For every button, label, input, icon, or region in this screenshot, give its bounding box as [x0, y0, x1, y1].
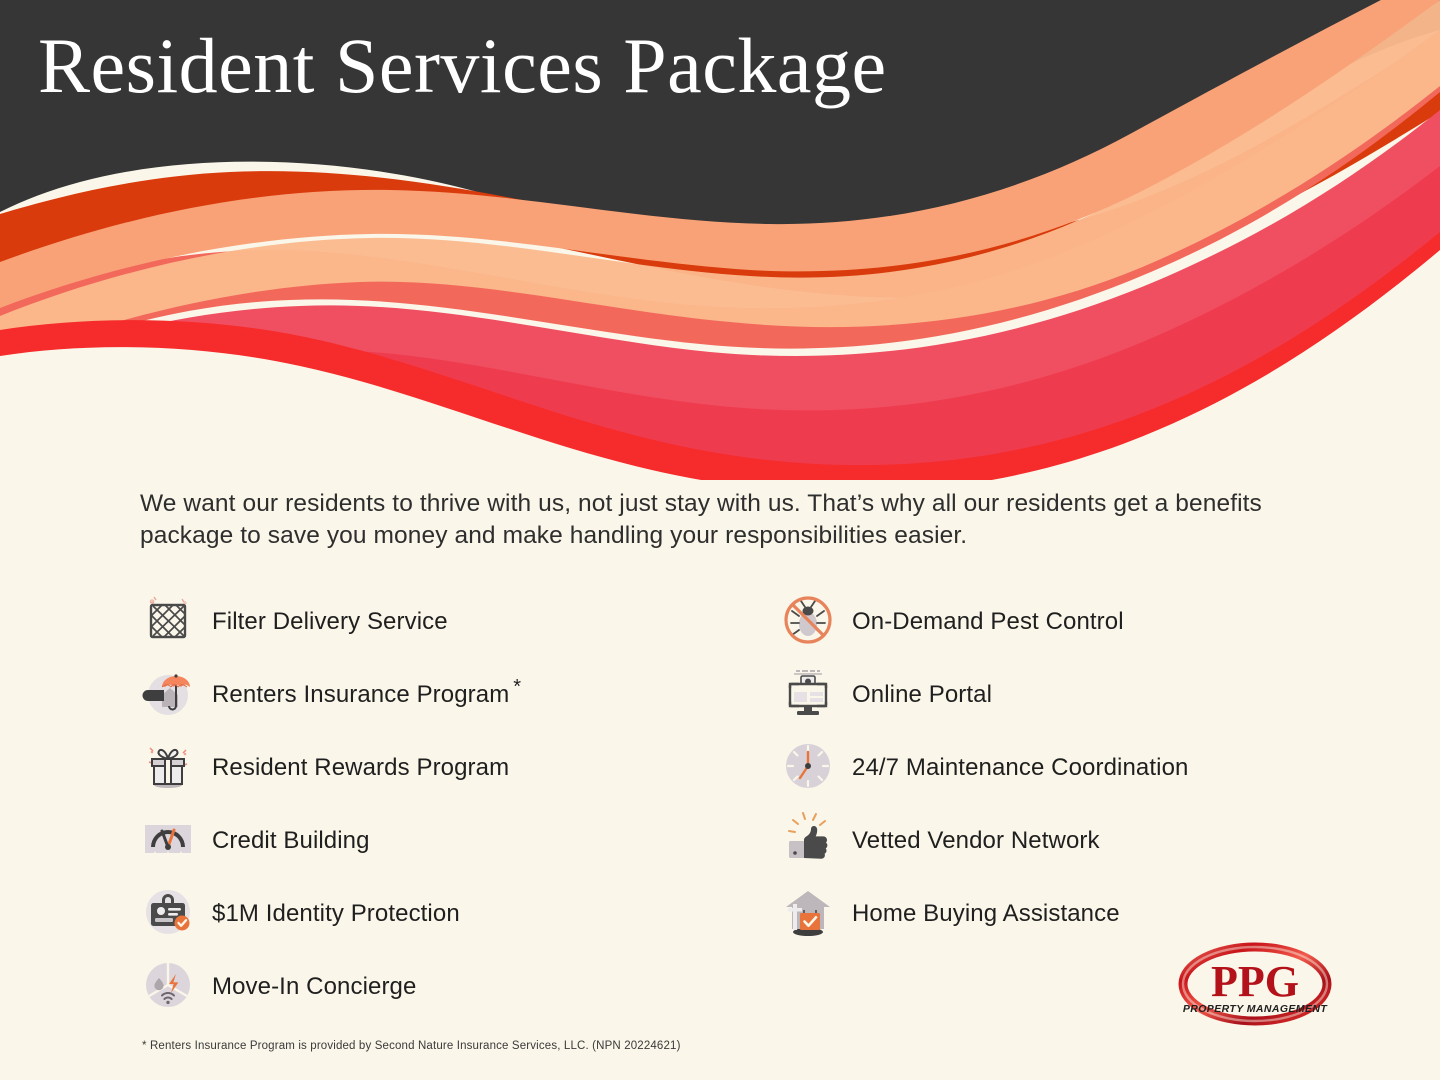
- benefit-label: Renters Insurance Program*: [212, 676, 521, 709]
- clock-icon: [780, 738, 836, 794]
- benefit-label: Home Buying Assistance: [852, 895, 1124, 928]
- utilities-circle-icon: [140, 957, 196, 1013]
- ppg-logo: PPG PROPERTY MANAGEMENT: [1170, 938, 1340, 1030]
- benefit-label: Credit Building: [212, 822, 374, 855]
- benefit-label: Vetted Vendor Network: [852, 822, 1104, 855]
- no-pest-icon: [780, 592, 836, 648]
- benefit-item-maintenance-coordination[interactable]: 24/7 Maintenance Coordination: [780, 729, 1320, 802]
- hero-banner: Resident Services Package: [0, 0, 1440, 480]
- resident-services-package-slide: Resident Services Package We want our re…: [0, 0, 1440, 1080]
- benefit-label: Filter Delivery Service: [212, 603, 452, 636]
- monitor-person-icon: [780, 665, 836, 721]
- benefit-item-credit-building[interactable]: Credit Building: [140, 802, 760, 875]
- benefit-label: $1M Identity Protection: [212, 895, 464, 928]
- gift-box-icon: [140, 738, 196, 794]
- thumbs-up-icon: [780, 811, 836, 867]
- page-title: Resident Services Package: [38, 26, 887, 106]
- footnote-marker: *: [513, 676, 521, 698]
- benefit-item-resident-rewards-program[interactable]: Resident Rewards Program: [140, 729, 760, 802]
- benefit-label: On-Demand Pest Control: [852, 603, 1128, 636]
- air-filter-icon: [140, 592, 196, 648]
- intro-paragraph: We want our residents to thrive with us,…: [140, 488, 1315, 552]
- benefit-item-online-portal[interactable]: Online Portal: [780, 656, 1320, 729]
- benefit-item-renters-insurance-program[interactable]: Renters Insurance Program*: [140, 656, 760, 729]
- umbrella-house-icon: [140, 665, 196, 721]
- benefit-label: Resident Rewards Program: [212, 749, 513, 782]
- credit-gauge-icon: [140, 811, 196, 867]
- benefit-item-filter-delivery-service[interactable]: Filter Delivery Service: [140, 583, 760, 656]
- benefit-item-vetted-vendor-network[interactable]: Vetted Vendor Network: [780, 802, 1320, 875]
- benefit-item-move-in-concierge[interactable]: Move-In Concierge: [140, 948, 760, 1021]
- footnote-text: * Renters Insurance Program is provided …: [142, 1040, 681, 1052]
- logo-tagline: PROPERTY MANAGEMENT: [1183, 1003, 1328, 1015]
- benefit-item-pest-control[interactable]: On-Demand Pest Control: [780, 583, 1320, 656]
- house-sold-icon: [780, 884, 836, 940]
- logo-wordmark: PPG: [1211, 957, 1299, 1006]
- benefits-right-column: On-Demand Pest Control: [780, 583, 1320, 948]
- benefit-item-identity-protection[interactable]: $1M Identity Protection: [140, 875, 760, 948]
- benefits-left-column: Filter Delivery Service Re: [140, 583, 760, 1021]
- benefit-label: 24/7 Maintenance Coordination: [852, 749, 1192, 782]
- id-badge-check-icon: [140, 884, 196, 940]
- benefit-label: Online Portal: [852, 676, 996, 709]
- benefit-label: Move-In Concierge: [212, 968, 420, 1001]
